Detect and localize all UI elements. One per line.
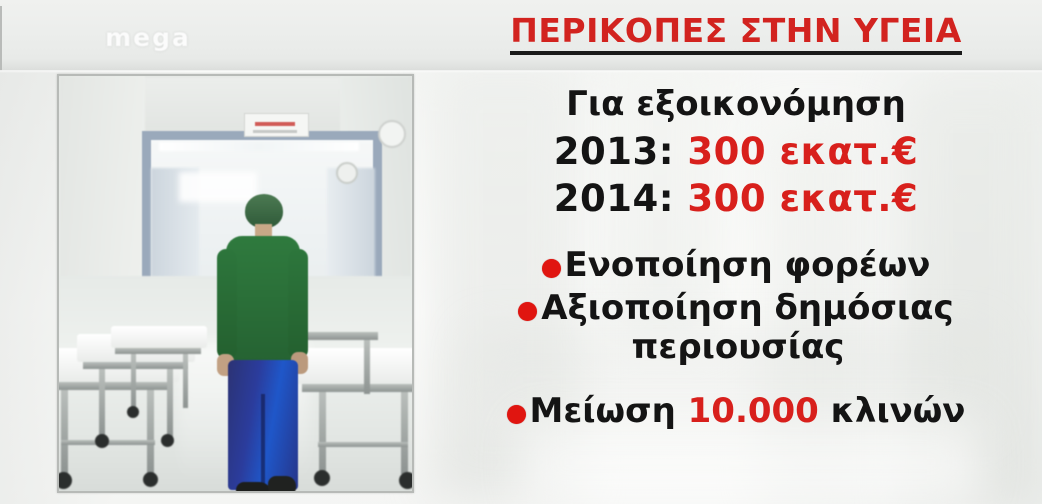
hospital-photo xyxy=(57,74,414,493)
measure-text-line1: Αξιοποίηση δημόσιας xyxy=(541,288,953,328)
measures-list: Ενοποίηση φορέων Αξιοποίηση δημόσιας περ… xyxy=(430,246,1042,431)
bullet-dot-icon xyxy=(507,405,526,424)
left-shoe xyxy=(236,482,272,491)
savings-row-2013: 2013: 300 εκατ.€ xyxy=(430,130,1042,173)
bullet-dot-icon xyxy=(542,259,561,278)
wall-clock-icon xyxy=(378,120,406,148)
measure-text: Μείωση 10.000 κλινών xyxy=(530,392,966,431)
gurney-leg xyxy=(61,390,68,474)
sign-red-text-line xyxy=(255,122,295,126)
gurney-wheel xyxy=(127,406,139,418)
bullet-dot-icon xyxy=(518,302,537,321)
mega-channel-logo: mega xyxy=(84,24,212,50)
gurney-leg xyxy=(131,354,136,408)
wall-clock-icon xyxy=(336,162,358,184)
surgical-cap xyxy=(245,194,283,228)
right-arm xyxy=(288,249,308,359)
measure-item-3: Μείωση 10.000 κλινών xyxy=(430,392,1042,431)
gurney-wheel xyxy=(314,470,330,486)
gurney-mattress xyxy=(111,326,207,348)
gurney-wheel xyxy=(59,472,72,489)
doorway-sign xyxy=(244,113,309,137)
savings-row-2014: 2014: 300 εκατ.€ xyxy=(430,177,1042,220)
left-arm xyxy=(217,249,237,359)
beds-suffix: κλινών xyxy=(819,391,966,431)
gurney-frame xyxy=(115,348,201,354)
gurney-leg xyxy=(183,354,188,408)
savings-amount: 300 εκατ.€ xyxy=(687,130,918,173)
measure-item-1: Ενοποίηση φορέων xyxy=(430,246,1042,285)
gurney-wheel xyxy=(95,434,109,448)
gurney-wheel xyxy=(143,472,158,487)
sign-grey-text-line xyxy=(253,130,297,133)
measure-text: Ενοποίηση φορέων xyxy=(565,246,931,285)
savings-amount: 300 εκατ.€ xyxy=(687,177,918,220)
gurney-left xyxy=(111,326,221,436)
right-shoe xyxy=(268,476,296,491)
gurney-leg xyxy=(401,392,408,474)
gurney-leg xyxy=(364,340,370,394)
headline-wrapper: ΠΕΡΙΚΟΠΕΣ ΣΤΗΝ ΥΓΕΙΑ xyxy=(430,14,1042,55)
pants-seam xyxy=(261,394,265,486)
beds-number: 10.000 xyxy=(688,391,819,431)
subtitle: Για εξοικονόμηση xyxy=(430,84,1042,124)
page-title: ΠΕΡΙΚΟΠΕΣ ΣΤΗΝ ΥΓΕΙΑ xyxy=(510,14,962,55)
measure-item-2: Αξιοποίηση δημόσιας περιουσίας xyxy=(430,289,1042,367)
measure-text-line2: περιουσίας xyxy=(522,328,953,367)
info-panel: ΠΕΡΙΚΟΠΕΣ ΣΤΗΝ ΥΓΕΙΑ Για εξοικονόμηση 20… xyxy=(430,74,1042,504)
news-graphic-screen: mega xyxy=(0,0,1042,504)
savings-year-label: 2013: xyxy=(554,130,674,173)
gurney-leg xyxy=(99,369,105,437)
measure-text: Αξιοποίηση δημόσιας περιουσίας xyxy=(541,289,953,367)
ceiling-light-strip xyxy=(159,142,359,151)
gurney-wheel xyxy=(399,472,412,489)
photo-image xyxy=(59,76,412,491)
beds-prefix: Μείωση xyxy=(530,391,688,431)
medical-staff-figure xyxy=(214,194,310,491)
savings-year-label: 2014: xyxy=(554,177,674,220)
header-left-rule xyxy=(0,6,2,71)
gurney-rail xyxy=(302,332,378,340)
